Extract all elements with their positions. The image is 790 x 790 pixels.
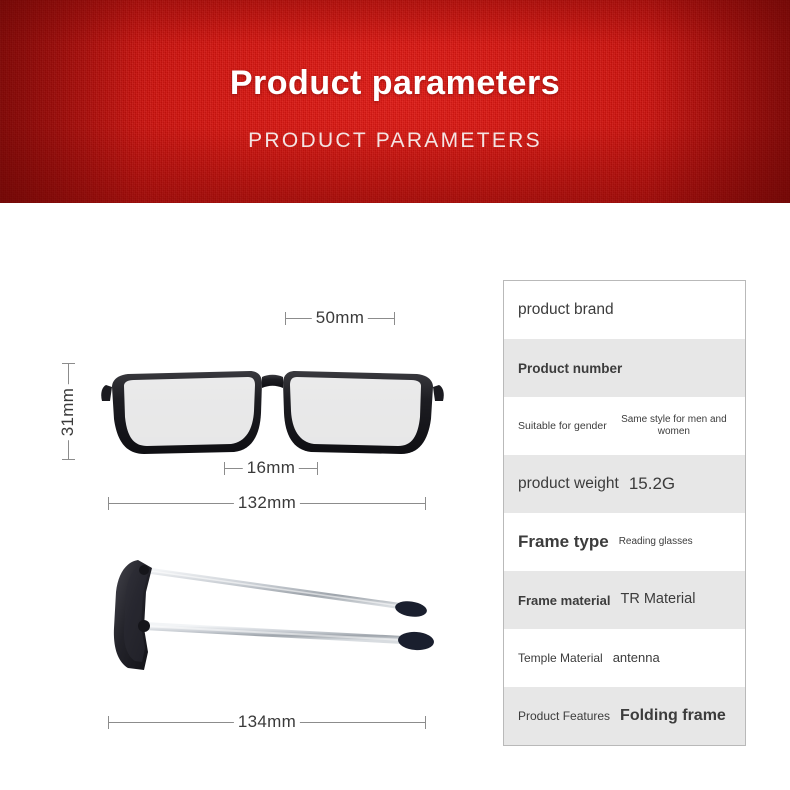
spec-key: Frame type [518,532,609,552]
spec-key: Product Features [518,709,610,723]
dimension-tick-right [394,312,395,325]
page-subtitle: PRODUCT PARAMETERS [0,130,790,151]
spec-row: product weight15.2G [504,455,745,513]
spec-row: Product number [504,339,745,397]
spec-key: product brand [518,301,614,319]
glasses-side-view [100,548,440,678]
dimension-total-width: 132mm [108,493,426,513]
dimension-label: 31mm [59,383,77,439]
dimension-tick-left [285,312,286,325]
spec-value: Same style for men and women [617,414,731,438]
dimension-bridge-width: 16mm [224,458,318,478]
dimension-tick-left [108,716,109,729]
spec-key: Frame material [518,593,611,608]
spec-row: Product FeaturesFolding frame [504,687,745,745]
spec-value: TR Material [621,591,696,608]
dimension-tick-bottom [62,459,75,460]
dimension-lens-width: 50mm [285,308,395,328]
dimension-label: 50mm [312,309,368,327]
dimension-label: 134mm [234,713,300,731]
spec-key: product weight [518,475,619,493]
spec-row: Frame typeReading glasses [504,513,745,571]
dimension-tick-right [425,497,426,510]
spec-value: Folding frame [620,706,726,725]
spec-value: 15.2G [629,474,675,494]
spec-row: Frame materialTR Material [504,571,745,629]
spec-key: Suitable for gender [518,420,607,432]
spec-key: Temple Material [518,651,603,665]
dimension-label: 16mm [243,459,299,477]
dimension-tick-left [224,462,225,475]
spec-key: Product number [518,361,622,376]
glasses-front-view [100,355,445,470]
spec-value: Reading glasses [619,536,693,548]
dimension-tick-right [425,716,426,729]
spec-row: Suitable for genderSame style for men an… [504,397,745,455]
spec-row: Temple Materialantenna [504,629,745,687]
product-spec-table: product brandProduct numberSuitable for … [503,280,746,746]
spec-value: antenna [613,650,660,666]
spec-row: product brand [504,281,745,339]
page-title: Product parameters [0,66,790,100]
dimension-tick-right [317,462,318,475]
dimension-lens-height: 31mm [58,363,78,460]
dimension-label: 132mm [234,494,300,512]
dimension-temple-length: 134mm [108,712,426,732]
dimension-tick-left [108,497,109,510]
dimension-tick-top [62,363,75,364]
page-header-banner: Product parameters PRODUCT PARAMETERS [0,0,790,203]
